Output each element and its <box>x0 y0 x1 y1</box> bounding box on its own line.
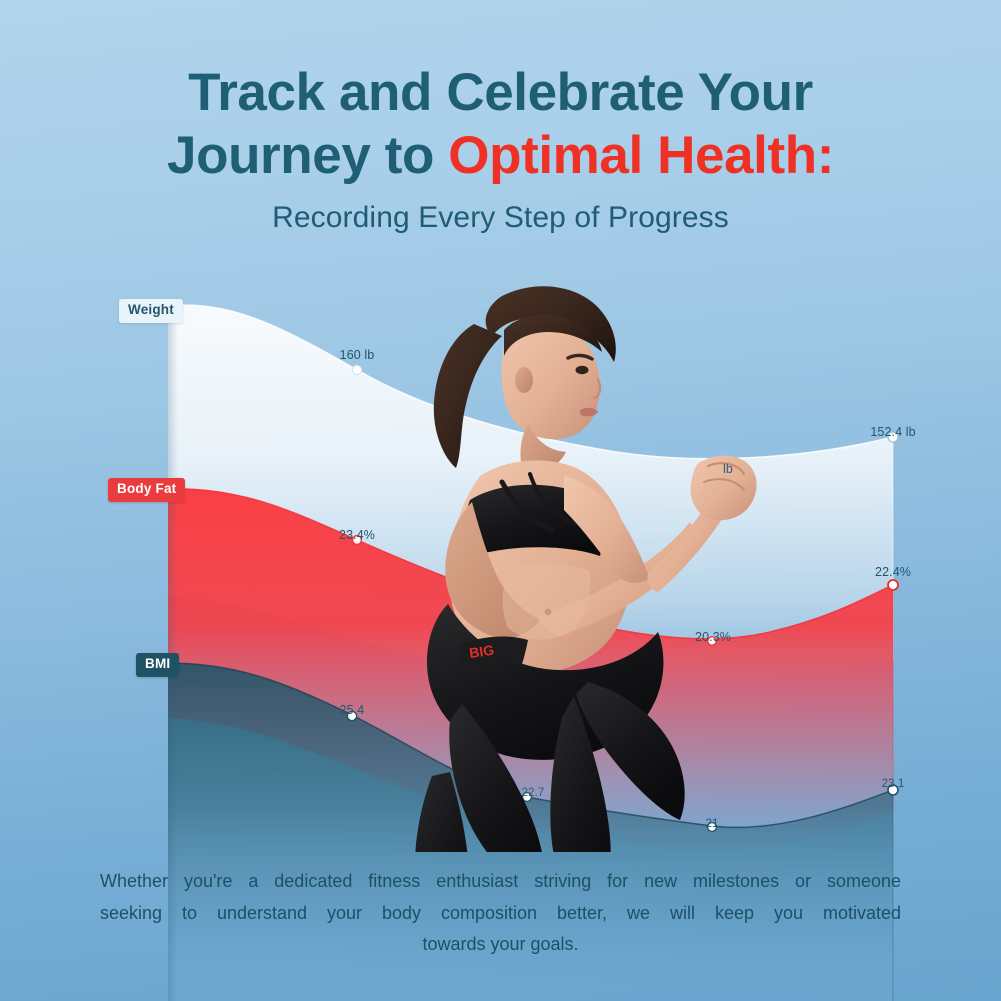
label-bodyfat-234: 23.4% <box>339 528 375 542</box>
label-bmi-21: 21 <box>706 818 719 830</box>
page-title: Track and Celebrate Your Journey to Opti… <box>0 62 1001 187</box>
body-copy: Whether you're a dedicated fitness enthu… <box>100 866 901 961</box>
label-weight-end: 152.4 lb <box>870 425 915 439</box>
label-bmi-227: 22.7 <box>522 787 545 799</box>
series-badge-bmi[interactable]: BMI <box>136 653 179 677</box>
label-bodyfat-203: 20.3% <box>695 630 731 644</box>
headline-block: Track and Celebrate Your Journey to Opti… <box>0 62 1001 235</box>
label-bodyfat-end: 22.4% <box>875 565 911 579</box>
series-badge-weight[interactable]: Weight <box>119 299 183 323</box>
headline-line-1: Track and Celebrate Your <box>0 62 1001 125</box>
bodyfat-point-end <box>888 580 898 590</box>
body-copy-line-2: seeking to understand your body composit… <box>100 898 901 930</box>
weight-point-160 <box>352 365 361 374</box>
headline-line-2: Journey to Optimal Health: <box>0 125 1001 188</box>
label-bmi-254: 25.4 <box>340 703 365 717</box>
label-bmi-end: 23.1 <box>882 778 905 790</box>
body-copy-line-1: Whether you're a dedicated fitness enthu… <box>100 866 901 898</box>
label-weight-occluded: lb <box>723 462 733 476</box>
page-subtitle: Recording Every Step of Progress <box>0 201 1001 235</box>
body-copy-line-3: towards your goals. <box>100 929 901 961</box>
headline-line-2-plain: Journey to <box>167 126 448 185</box>
series-badge-body-fat[interactable]: Body Fat <box>108 478 185 502</box>
headline-accent: Optimal Health: <box>448 126 834 185</box>
label-weight-160: 160 lb <box>340 348 375 362</box>
poster-root: BIG Weight Body Fat BMI 160 <box>0 0 1001 1001</box>
